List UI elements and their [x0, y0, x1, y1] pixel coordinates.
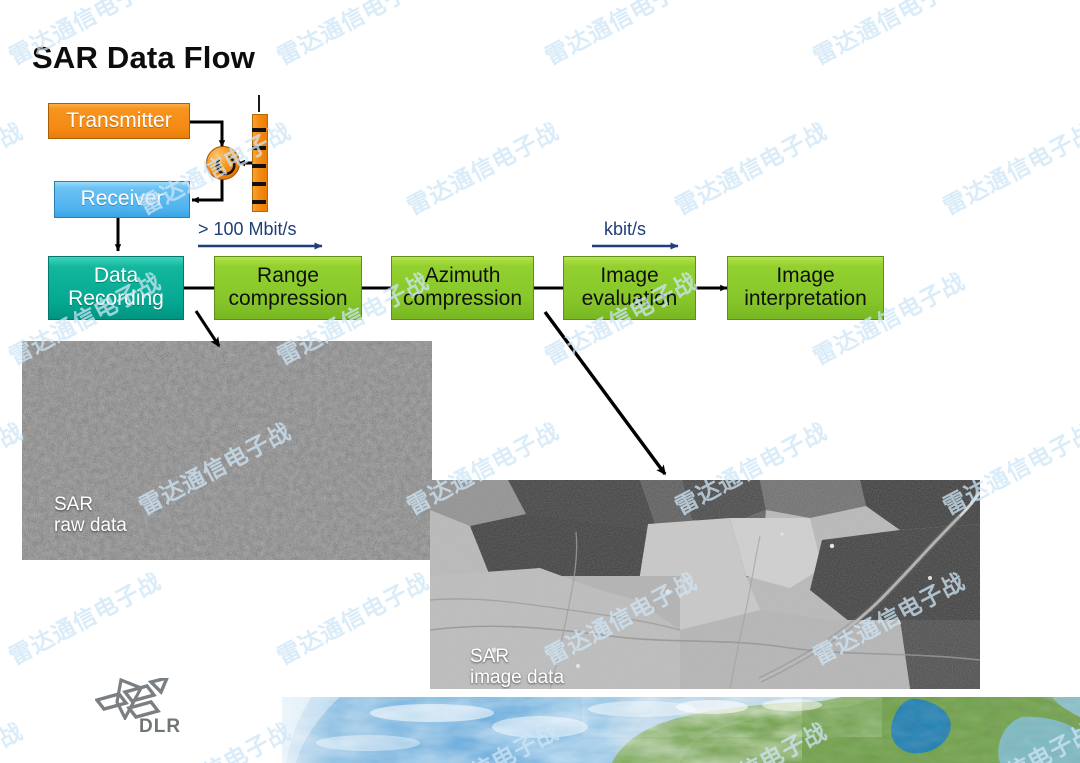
image-evaluation-label: Imageevaluation: [564, 265, 695, 310]
antenna-stripe: [252, 128, 266, 132]
watermark-text: 雷达通信电子战: [668, 113, 832, 222]
circulator-icon: [206, 146, 240, 180]
transmitter-label: Transmitter: [49, 110, 189, 133]
watermark-text: 雷达通信电子战: [270, 0, 434, 71]
range-compression-label: Rangecompression: [215, 265, 361, 310]
dlr-logo: DLR: [95, 678, 205, 740]
caption-line-2: raw data: [54, 515, 127, 536]
image-interpretation-label: Imageinterpretation: [728, 265, 883, 310]
caption-line-1: SAR: [54, 494, 93, 515]
slide-canvas: SAR Data Flow: [0, 0, 1080, 763]
antenna-mast-icon: [258, 95, 260, 112]
watermark-text: 雷达通信电子战: [1074, 263, 1080, 372]
watermark-text: 雷达通信电子战: [1074, 563, 1080, 672]
antenna-stripe: [252, 146, 266, 150]
transmitter-box[interactable]: Transmitter: [48, 103, 190, 139]
data-recording-label: DataRecording: [49, 265, 183, 310]
earth-texture: [282, 697, 1080, 763]
watermark-text: 雷达通信电子战: [2, 563, 166, 672]
antenna-stripe: [252, 182, 266, 186]
rate-label-mbit: > 100 Mbit/s: [198, 219, 297, 240]
sar-raw-data-image: SARraw data: [22, 341, 432, 560]
dlr-mark-icon: [95, 678, 177, 720]
watermark-text: 雷达通信电子战: [270, 563, 434, 672]
earth-image-strip: [282, 697, 1080, 763]
watermark-text: 雷达通信电子战: [0, 113, 28, 222]
data-recording-box[interactable]: DataRecording: [48, 256, 184, 320]
range-compression-box[interactable]: Rangecompression: [214, 256, 362, 320]
receiver-box[interactable]: Receiver: [54, 181, 190, 218]
sar-image-data-image: SARimage data: [430, 480, 980, 689]
page-title: SAR Data Flow: [32, 40, 255, 76]
receiver-label: Receiver: [55, 188, 189, 211]
antenna-icon: [252, 114, 268, 212]
rate-label-kbit: kbit/s: [604, 219, 646, 240]
sar-image-data-caption: SARimage data: [470, 646, 564, 689]
dlr-wordmark: DLR: [139, 716, 181, 738]
image-evaluation-box[interactable]: Imageevaluation: [563, 256, 696, 320]
image-interpretation-box[interactable]: Imageinterpretation: [727, 256, 884, 320]
watermark-text: 雷达通信电子战: [538, 0, 702, 71]
watermark-text: 雷达通信电子战: [0, 713, 28, 763]
caption-line-1: SAR: [470, 646, 509, 667]
circulator-arrow-icon: [207, 147, 241, 181]
watermark-text: 雷达通信电子战: [1074, 0, 1080, 71]
antenna-stripe: [252, 164, 266, 168]
watermark-text: 雷达通信电子战: [806, 0, 970, 71]
watermark-text: 雷达通信电子战: [936, 113, 1080, 222]
antenna-stripe: [252, 200, 266, 204]
caption-line-2: image data: [470, 667, 564, 688]
sar-raw-data-caption: SARraw data: [54, 494, 127, 537]
watermark-text: 雷达通信电子战: [400, 113, 564, 222]
azimuth-compression-label: Azimuthcompression: [392, 265, 533, 310]
azimuth-compression-box[interactable]: Azimuthcompression: [391, 256, 534, 320]
